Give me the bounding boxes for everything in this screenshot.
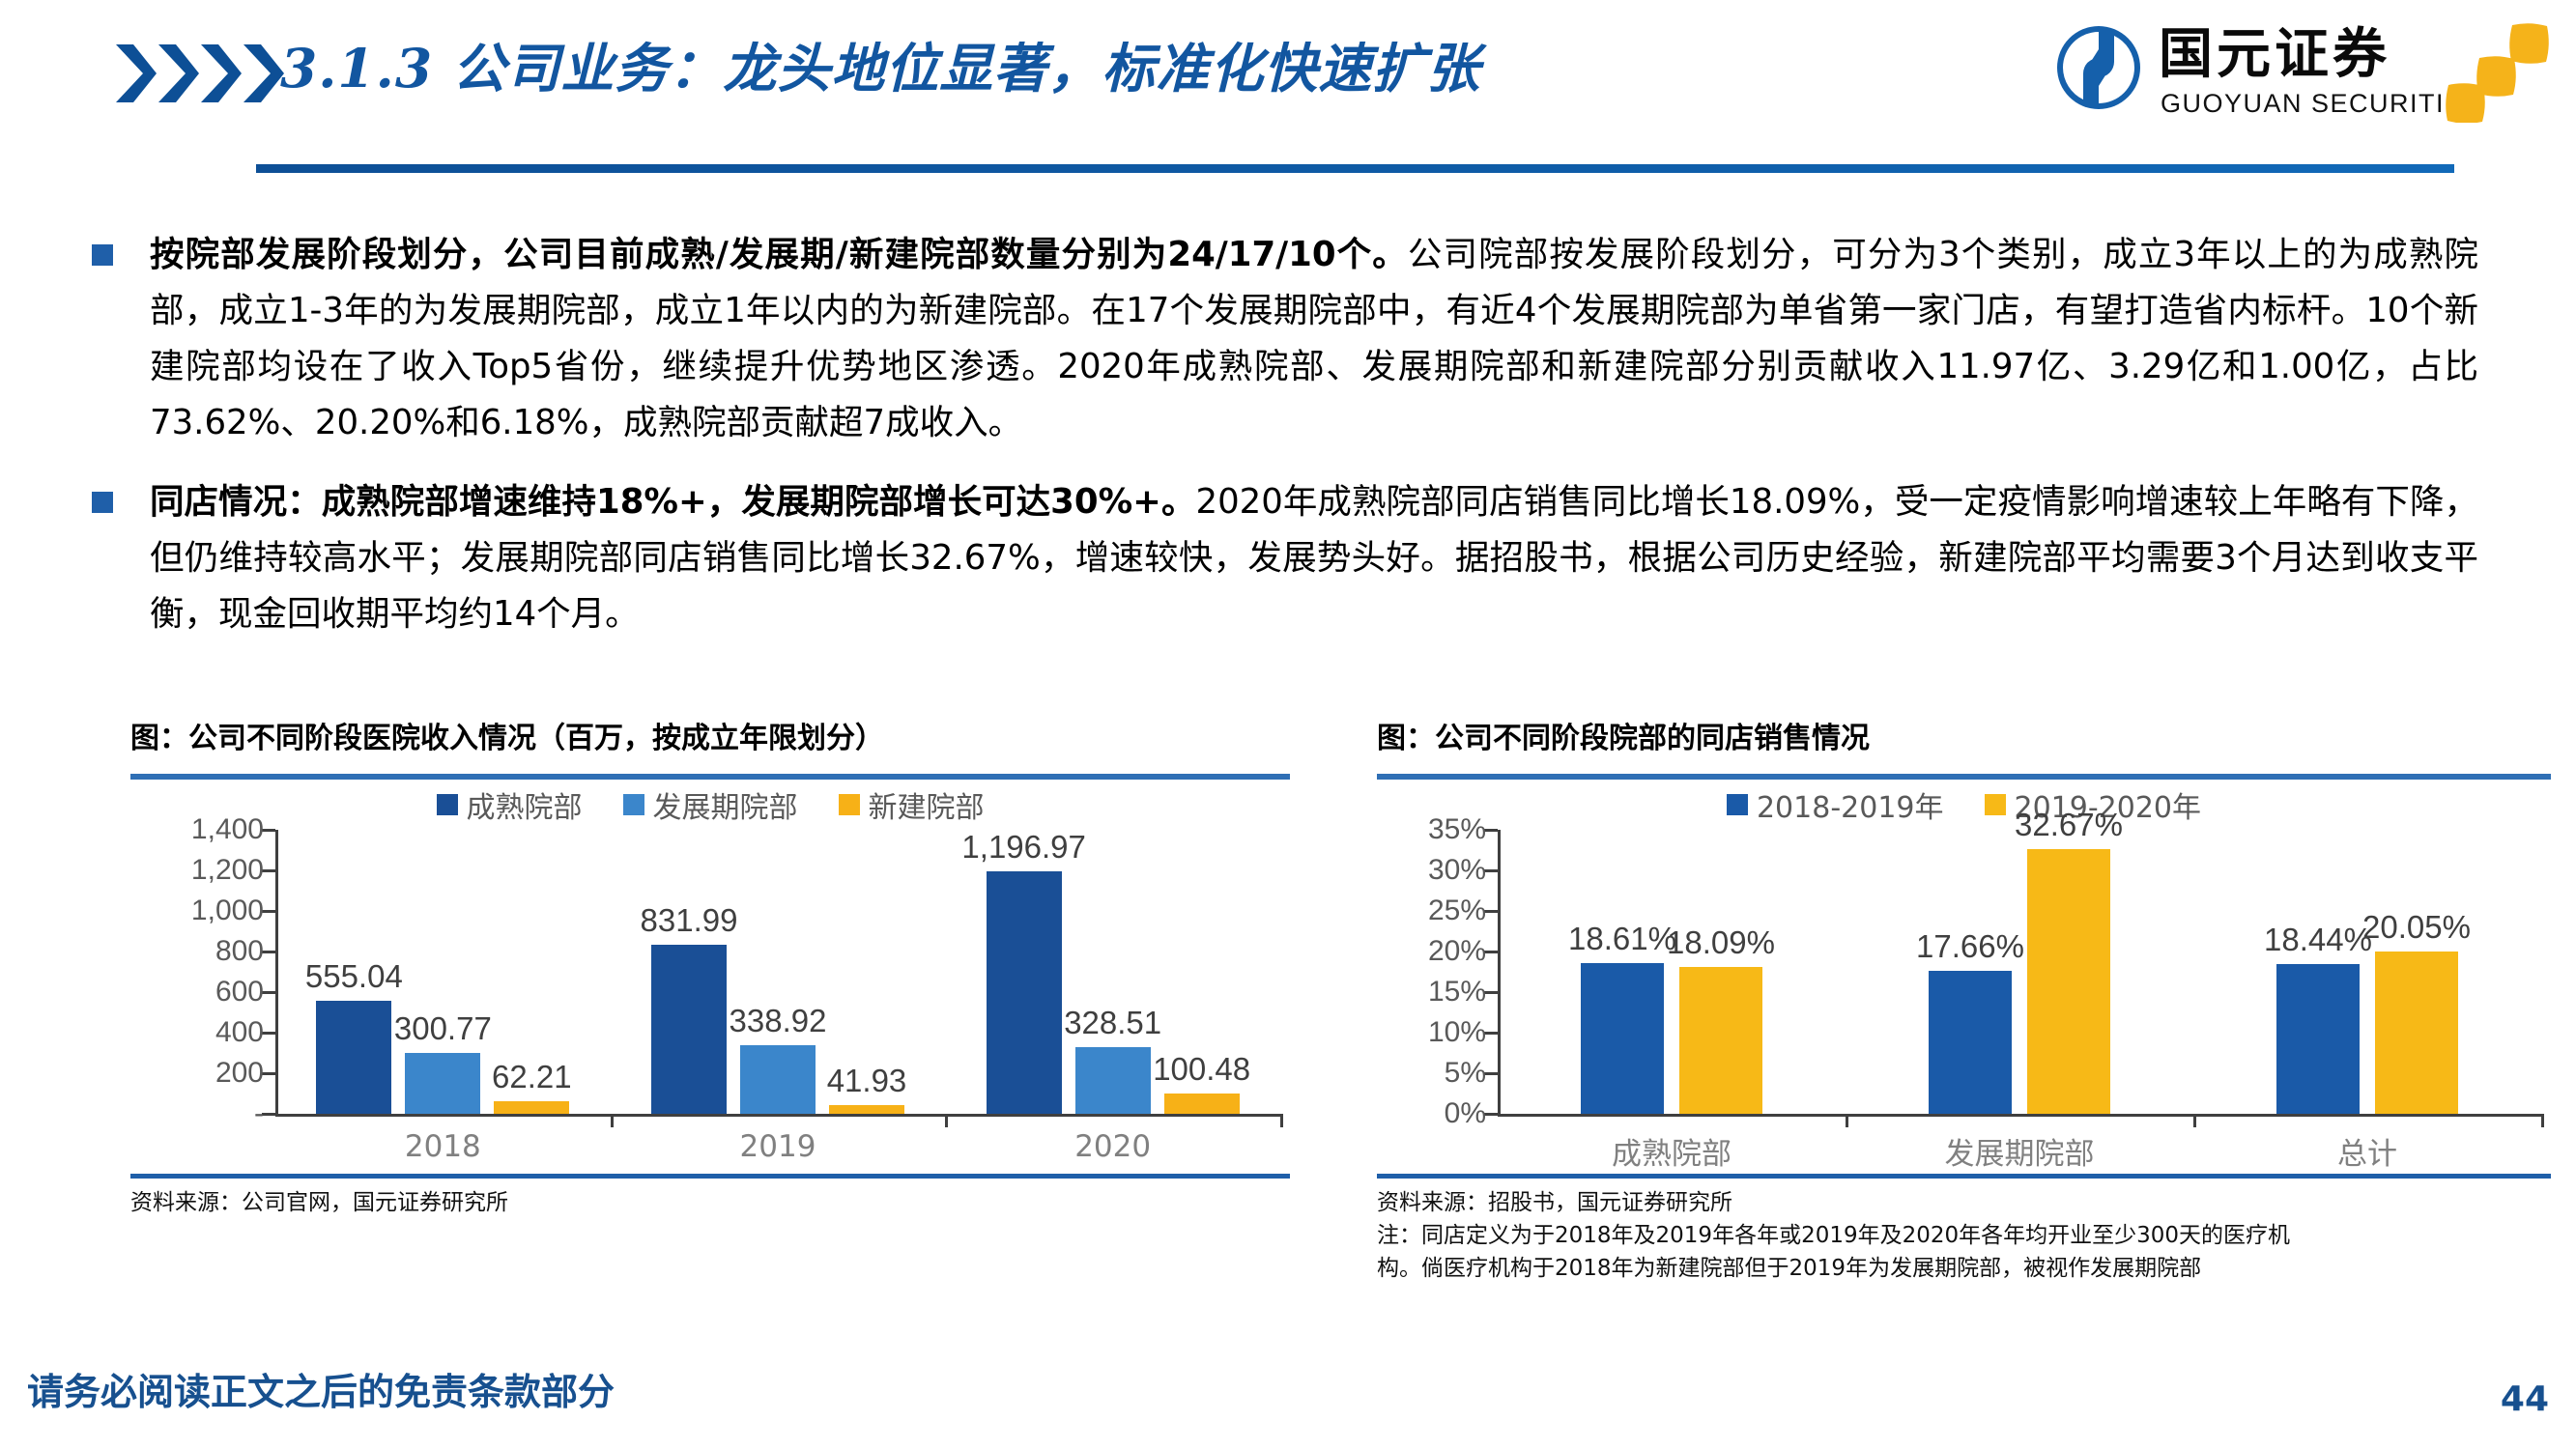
legend-item-0: 2018-2019年 [1727, 783, 1944, 826]
right-chart-source: 资料来源：招股书，国元证券研究所 注：同店定义为于2018年及2019年各年或2… [1377, 1179, 2551, 1285]
bar-value-label: 32.67% [2015, 807, 2123, 843]
paragraph-2-text: 同店情况：成熟院部增速维持18%+，发展期院部增长可达30%+。2020年成熟院… [150, 474, 2478, 642]
left-chart-x-categories: 201820192020 [130, 1120, 1290, 1174]
same-store-sales-chart: 2018-2019年2019-2020年 0%5%10%15%20%25%30%… [1377, 780, 2551, 1174]
right-chart-panel: 图：公司不同阶段院部的同店销售情况 2018-2019年2019-2020年 0… [1377, 720, 2551, 1285]
left-chart-title: 图：公司不同阶段医院收入情况（百万，按成立年限划分） [130, 720, 1290, 758]
left-chart-legend: 成熟院部发展期院部新建院部 [130, 780, 1290, 830]
legend-label: 2018-2019年 [1757, 783, 1944, 826]
bar [2276, 964, 2360, 1114]
bar-value-label: 18.44% [2264, 922, 2372, 958]
legend-item-1: 发展期院部 [623, 783, 798, 826]
y-axis-labels: -2004006008001,0001,2001,400 [130, 830, 275, 1120]
y-tick-label: 600 [215, 976, 264, 1009]
logo-name-en: GUOYUAN SECURITIES [2161, 89, 2482, 118]
x-category-label: 2020 [1074, 1129, 1151, 1164]
y-tick-label: 1,200 [191, 854, 264, 887]
y-tick-label: 20% [1428, 935, 1486, 968]
paragraph-1-lead: 按院部发展阶段划分，公司目前成熟/发展期/新建院部数量分别为24/17/10个。 [150, 235, 1408, 274]
bar [829, 1105, 904, 1114]
right-chart-plot: 0%5%10%15%20%25%30%35%18.61%18.09%17.66%… [1377, 830, 2541, 1120]
paragraph-2: 同店情况：成熟院部增速维持18%+，发展期院部增长可达30%+。2020年成熟院… [92, 474, 2478, 642]
bar-value-label: 17.66% [1916, 928, 2024, 965]
y-tick-label: 1,400 [191, 813, 264, 846]
bar-value-label: 328.51 [1064, 1005, 1161, 1041]
bar-value-label: 555.04 [305, 958, 403, 995]
x-axis-line [1498, 1114, 2541, 1117]
legend-label: 新建院部 [869, 783, 985, 826]
left-chart-panel: 图：公司不同阶段医院收入情况（百万，按成立年限划分） 成熟院部发展期院部新建院部… [130, 720, 1290, 1219]
x-category-label: 成熟院部 [1612, 1129, 1732, 1173]
bar-value-label: 18.61% [1568, 921, 1676, 957]
bar [740, 1045, 816, 1114]
bar-value-label: 62.21 [492, 1059, 572, 1095]
right-chart-legend: 2018-2019年2019-2020年 [1377, 780, 2551, 830]
bar [1581, 963, 1664, 1114]
legend-swatch-icon [839, 794, 860, 815]
y-tick-label: 25% [1428, 895, 1486, 927]
bar [651, 945, 727, 1114]
bar [494, 1101, 569, 1114]
right-chart-title: 图：公司不同阶段院部的同店销售情况 [1377, 720, 2551, 758]
bar-value-label: 338.92 [730, 1003, 827, 1039]
legend-swatch-icon [437, 794, 458, 815]
y-tick-label: 30% [1428, 854, 1486, 887]
three-gold-squares-icon [2441, 21, 2552, 123]
footer-disclaimer: 请务必阅读正文之后的免责条款部分 [27, 1370, 615, 1414]
paragraph-1: 按院部发展阶段划分，公司目前成熟/发展期/新建院部数量分别为24/17/10个。… [92, 227, 2478, 451]
page-number: 44 [2501, 1379, 2549, 1419]
bullet-square-icon [92, 492, 113, 513]
y-tick-label: 5% [1445, 1057, 1486, 1090]
y-tick-label: 15% [1428, 976, 1486, 1009]
y-tick-label: 200 [215, 1057, 264, 1090]
legend-swatch-icon [623, 794, 644, 815]
legend-item-2: 新建院部 [839, 783, 985, 826]
y-tick-label: 800 [215, 935, 264, 968]
right-chart-note-line-2: 构。倘医疗机构于2018年为新建院部但于2019年为发展期院部，被视作发展期院部 [1377, 1252, 2551, 1285]
logo-name-cn: 国元证券 [2159, 27, 2390, 83]
title-divider [256, 164, 2454, 173]
legend-swatch-icon [1727, 794, 1748, 815]
left-chart-plot: -2004006008001,0001,2001,400555.04300.77… [130, 830, 1280, 1120]
guoyuan-circle-mark-icon [2054, 23, 2143, 112]
legend-label: 发展期院部 [653, 783, 798, 826]
bar [987, 871, 1062, 1114]
x-category-label: 发展期院部 [1945, 1129, 2095, 1173]
bar-value-label: 300.77 [394, 1010, 492, 1047]
legend-swatch-icon [1985, 794, 2006, 815]
y-tick-label: 1,000 [191, 895, 264, 927]
bar [1075, 1047, 1151, 1114]
bar [1164, 1094, 1240, 1114]
x-category-label: 总计 [2337, 1129, 2397, 1173]
bar-value-label: 100.48 [1153, 1051, 1250, 1088]
bar-value-label: 18.09% [1667, 924, 1775, 961]
legend-label: 成熟院部 [467, 783, 583, 826]
left-chart-source: 资料来源：公司官网，国元证券研究所 [130, 1179, 1290, 1219]
company-logo: 国元证券 GUOYUAN SECURITIES [2054, 17, 2557, 124]
bar [405, 1053, 480, 1114]
slide-header: 3.1.3 公司业务：龙头地位显著，标准化快速扩张 国元证券 GUOYUAN S… [0, 0, 2576, 179]
body-text-block: 按院部发展阶段划分，公司目前成熟/发展期/新建院部数量分别为24/17/10个。… [92, 227, 2478, 666]
bar-value-label: 831.99 [641, 902, 738, 939]
revenue-by-stage-chart: 成熟院部发展期院部新建院部 -2004006008001,0001,2001,4… [130, 780, 1290, 1174]
bar [1679, 967, 1762, 1114]
legend-item-0: 成熟院部 [437, 783, 583, 826]
bar [1929, 971, 2012, 1114]
slide-root: 3.1.3 公司业务：龙头地位显著，标准化快速扩张 国元证券 GUOYUAN S… [0, 0, 2576, 1449]
page-title: 3.1.3 公司业务：龙头地位显著，标准化快速扩张 [280, 35, 1480, 102]
y-tick-label: 35% [1428, 813, 1486, 846]
x-axis-line [275, 1114, 1280, 1117]
y-axis-line [1498, 830, 1501, 1114]
bar [2375, 952, 2458, 1114]
paragraph-1-text: 按院部发展阶段划分，公司目前成熟/发展期/新建院部数量分别为24/17/10个。… [150, 227, 2478, 451]
bullet-square-icon [92, 244, 113, 266]
bar [2027, 849, 2110, 1114]
y-tick-label: 10% [1428, 1016, 1486, 1049]
y-tick-label: 400 [215, 1016, 264, 1049]
bar-value-label: 1,196.97 [961, 829, 1085, 866]
bar [316, 1001, 391, 1114]
x-category-label: 2018 [405, 1129, 481, 1164]
x-category-label: 2019 [740, 1129, 816, 1164]
y-axis-labels: 0%5%10%15%20%25%30%35% [1377, 830, 1498, 1120]
paragraph-2-lead: 同店情况：成熟院部增速维持18%+，发展期院部增长可达30%+。 [150, 482, 1195, 522]
double-chevron-right-icon [114, 43, 283, 103]
bar-value-label: 20.05% [2362, 909, 2471, 946]
right-chart-note-line-1: 注：同店定义为于2018年及2019年各年或2019年及2020年各年均开业至少… [1377, 1219, 2551, 1252]
y-axis-line [275, 830, 278, 1114]
bar-value-label: 41.93 [827, 1063, 907, 1099]
right-chart-x-categories: 成熟院部发展期院部总计 [1377, 1120, 2551, 1174]
right-chart-source-line: 资料来源：招股书，国元证券研究所 [1377, 1186, 2551, 1219]
